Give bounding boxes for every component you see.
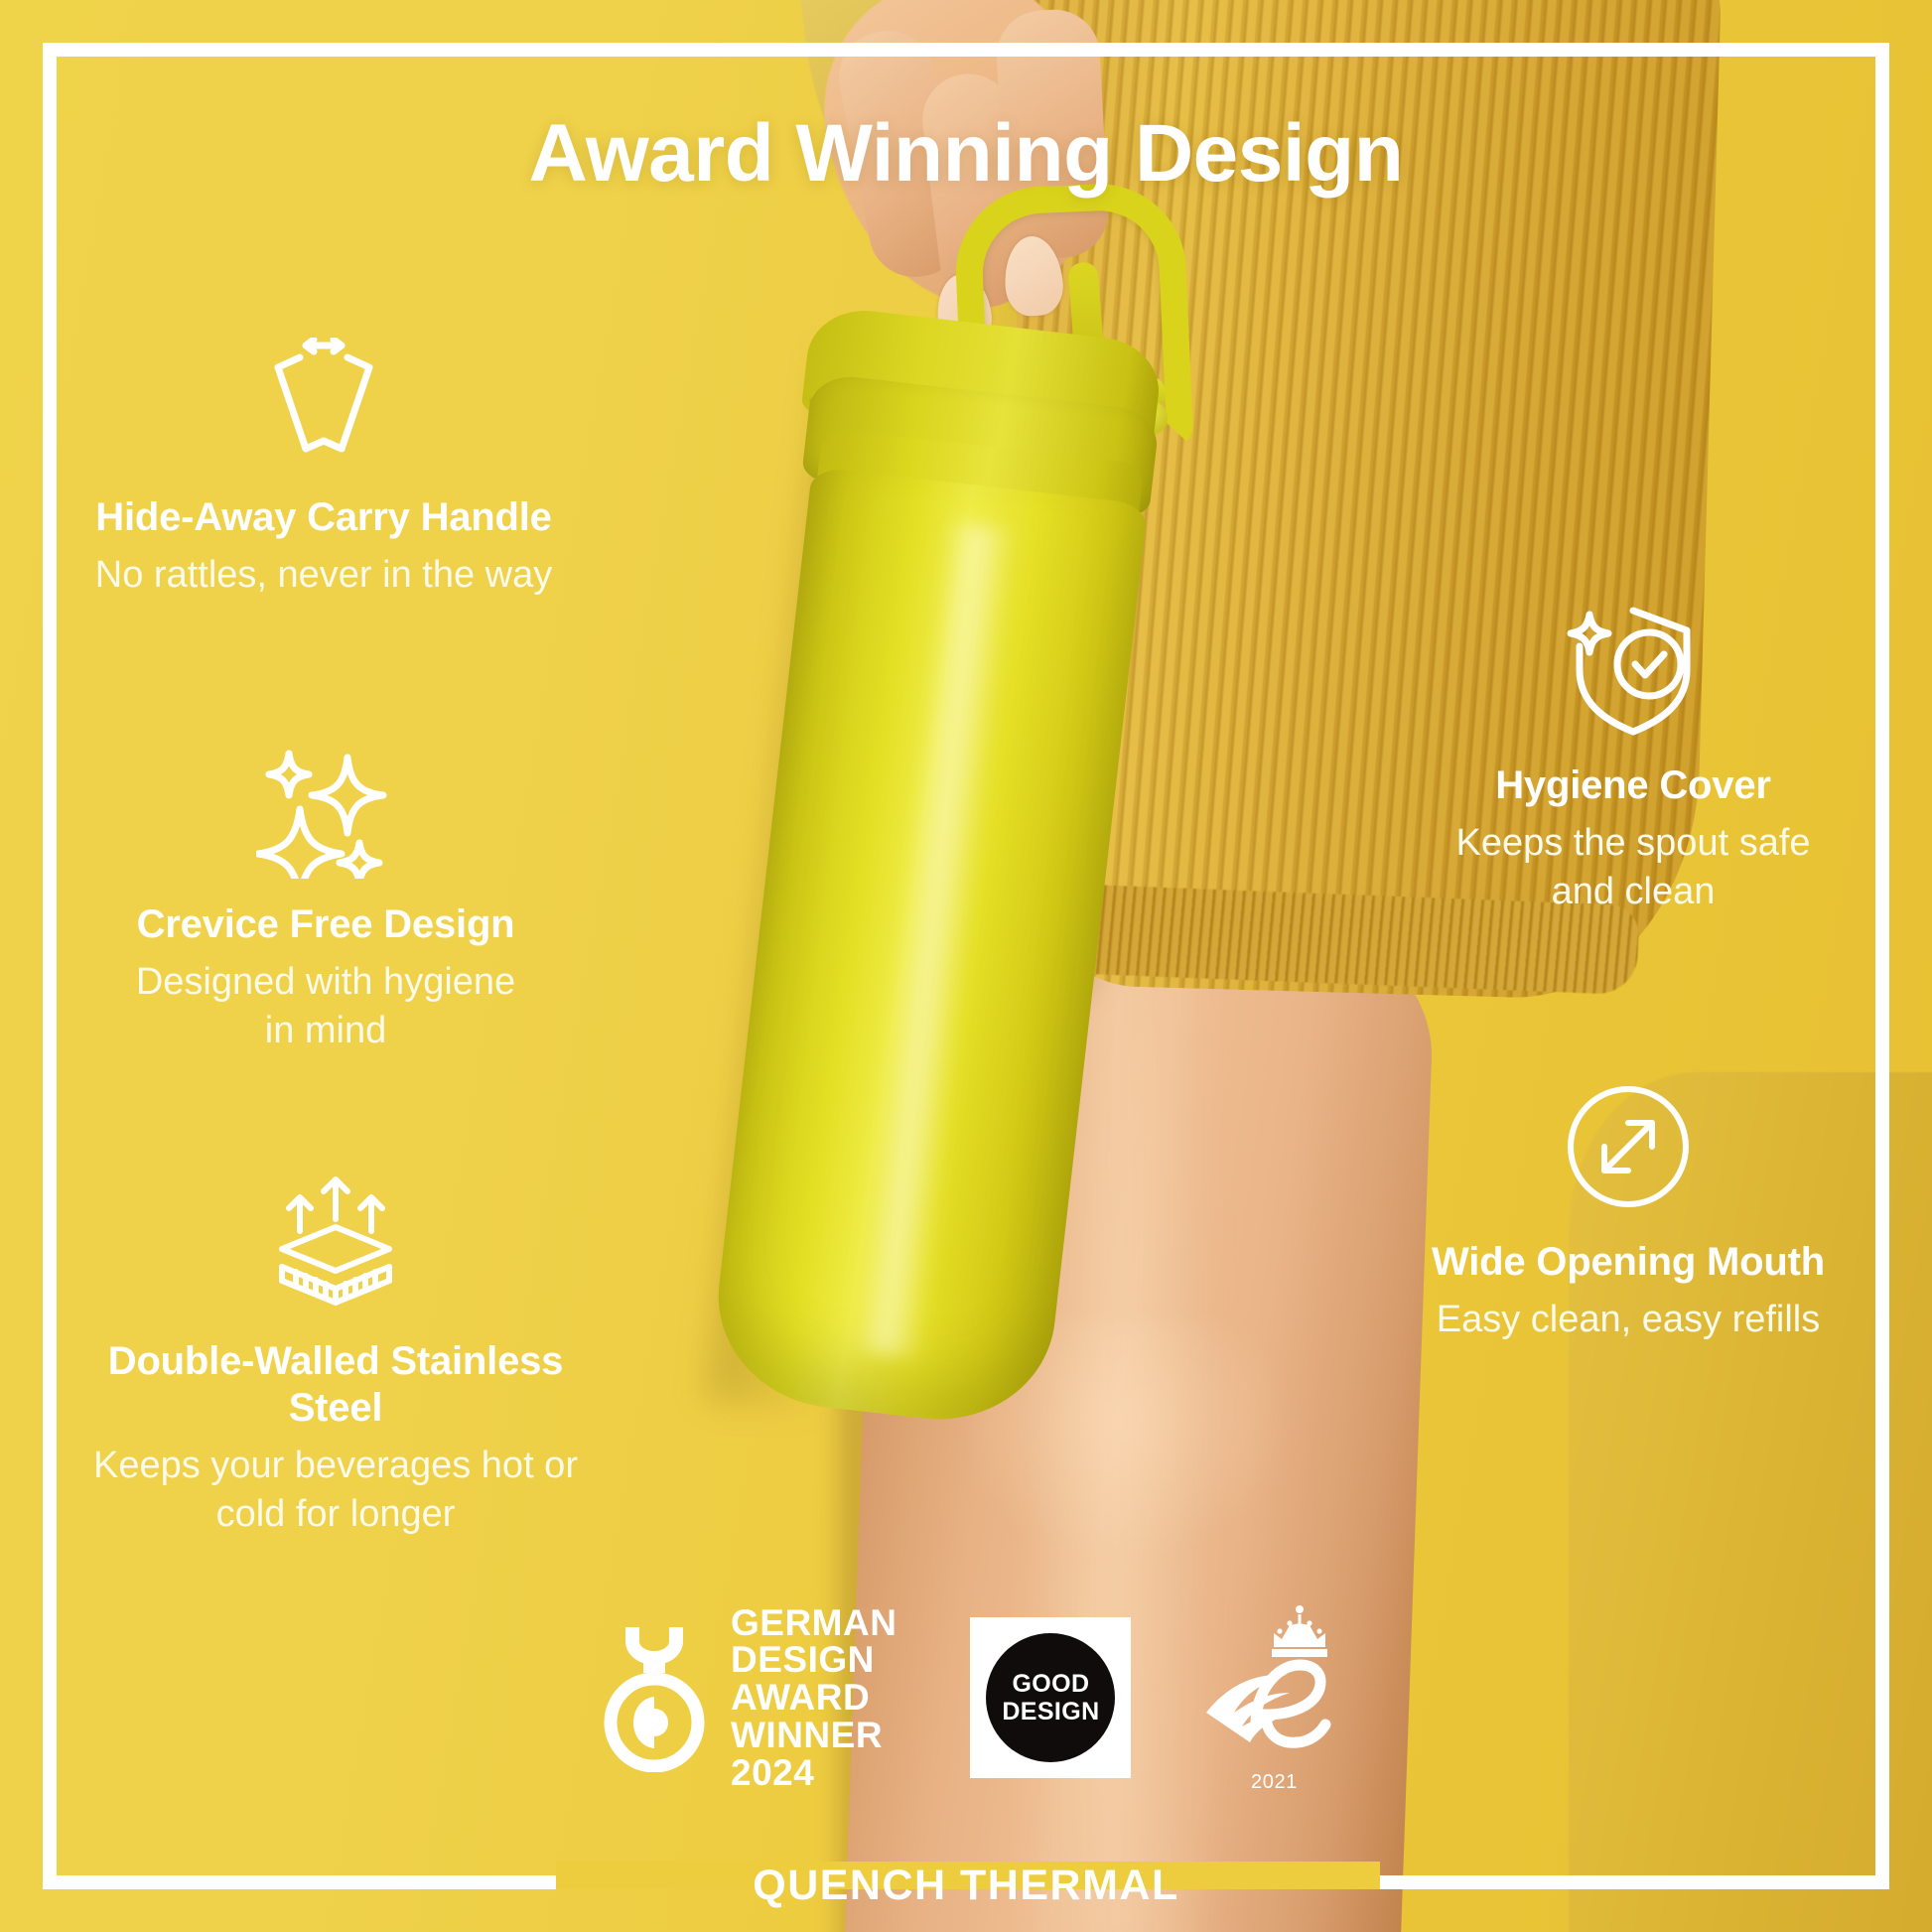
good-design-line-2: DESIGN [1002, 1698, 1099, 1726]
feature-heading: Hygiene Cover [1420, 762, 1847, 809]
award-badges: GERMAN DESIGN AWARD WINNER 2024 GOOD DES… [596, 1598, 1390, 1797]
feature-heading: Crevice Free Design [117, 901, 534, 948]
expand-arrows-circle-icon [1390, 1072, 1866, 1221]
gda-line-3: AWARD [731, 1679, 897, 1717]
shield-check-sparkle-icon [1420, 596, 1847, 745]
feature-body: Keeps your beverages hot or cold for lon… [87, 1442, 584, 1540]
brand-name: QUENCH THERMAL [0, 1862, 1932, 1910]
gda-line-4: WINNER [731, 1717, 897, 1754]
gda-line-1: GERMAN [731, 1604, 897, 1642]
gda-line-2: DESIGN [731, 1641, 897, 1679]
feature-heading: Wide Opening Mouth [1390, 1239, 1866, 1286]
queens-award-badge: 2021 [1204, 1603, 1343, 1792]
german-design-award-badge: GERMAN DESIGN AWARD WINNER 2024 [596, 1604, 897, 1792]
feature-body: Keeps the spout safe and clean [1420, 819, 1847, 917]
german-design-award-medallion-icon [596, 1623, 713, 1772]
feature-crevice-free-design: Crevice Free Design Designed with hygien… [117, 735, 534, 1056]
feature-body: Designed with hygiene in mind [117, 958, 534, 1056]
queens-award-winged-e-icon [1204, 1603, 1343, 1770]
feature-hide-away-carry-handle: Hide-Away Carry Handle No rattles, never… [66, 328, 582, 600]
german-design-award-text: GERMAN DESIGN AWARD WINNER 2024 [731, 1604, 897, 1792]
feature-wide-opening-mouth: Wide Opening Mouth Easy clean, easy refi… [1390, 1072, 1866, 1344]
gda-line-5: 2024 [731, 1754, 897, 1792]
feature-double-walled-stainless-steel: Double-Walled Stainless Steel Keeps your… [87, 1172, 584, 1539]
queens-award-year: 2021 [1204, 1771, 1343, 1794]
good-design-circle: GOOD DESIGN [986, 1633, 1115, 1762]
layers-insulation-icon [87, 1172, 584, 1320]
feature-body: No rattles, never in the way [66, 551, 582, 600]
feature-body: Easy clean, easy refills [1390, 1296, 1866, 1344]
carry-handle-icon [66, 328, 582, 477]
feature-heading: Double-Walled Stainless Steel [87, 1338, 584, 1432]
good-design-line-1: GOOD [1012, 1670, 1089, 1699]
sparkles-icon [117, 735, 534, 884]
feature-hygiene-cover: Hygiene Cover Keeps the spout safe and c… [1420, 596, 1847, 917]
page-title: Award Winning Design [0, 107, 1932, 201]
feature-heading: Hide-Away Carry Handle [66, 494, 582, 541]
good-design-award-badge: GOOD DESIGN [970, 1617, 1131, 1778]
infographic-canvas: Award Winning Design Hide-Away Carry Han… [0, 0, 1932, 1932]
